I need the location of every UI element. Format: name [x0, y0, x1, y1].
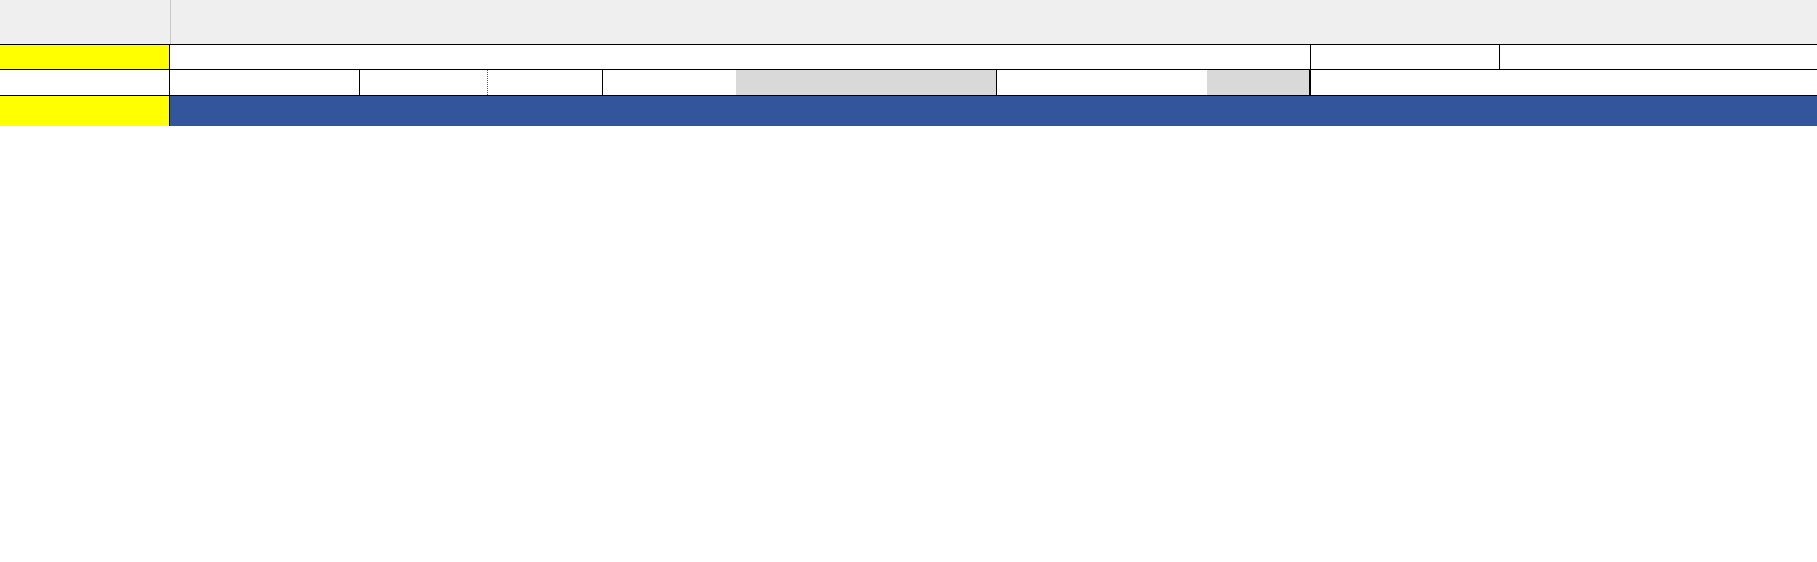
quarter-header-row: [0, 96, 1817, 126]
ticker-value[interactable]: [170, 45, 360, 69]
exchange-value: [488, 70, 603, 95]
copyright-label: [1310, 70, 1500, 95]
spreadsheet-canvas: [0, 0, 1817, 562]
last-price-label: [0, 70, 170, 95]
report-date: [1620, 0, 1817, 44]
copyright-value[interactable]: [1500, 70, 1817, 95]
title-corner-blank: [0, 0, 171, 44]
info-row-ticker: [0, 44, 1817, 70]
info-row1-spacer: [980, 45, 1310, 69]
company-name: [360, 45, 980, 69]
industry4-label: [603, 70, 736, 95]
exchange-label: [360, 70, 488, 95]
ticker-label: [0, 45, 170, 69]
current-label: [0, 96, 170, 126]
industry4-value: [736, 70, 997, 95]
industry2-label: [997, 70, 1207, 95]
data-source-label: [1310, 45, 1500, 69]
page-title: [170, 0, 1620, 44]
last-price-value: [170, 70, 360, 95]
data-source-value: [1500, 45, 1817, 69]
info-row-lastprice: [0, 70, 1817, 96]
title-band: [0, 0, 1817, 44]
industry2-value: [1207, 70, 1310, 95]
